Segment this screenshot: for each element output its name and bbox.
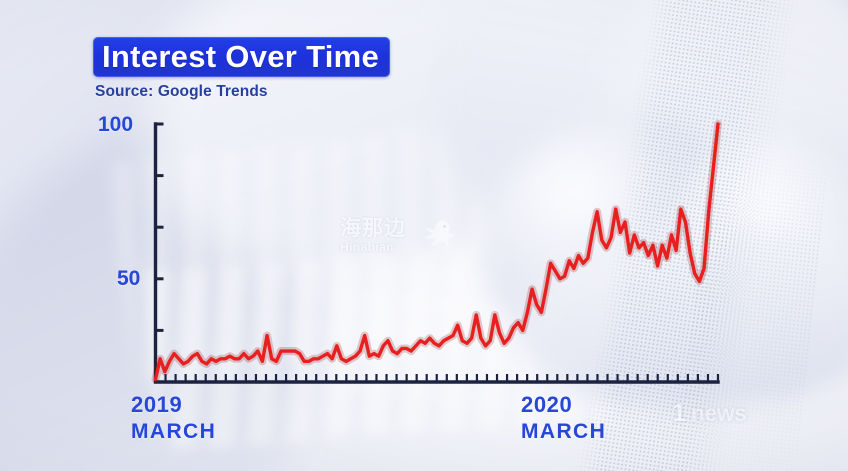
broadcaster-number: 1 <box>672 401 686 426</box>
series-line-glow <box>156 124 719 379</box>
x-axis-ticks <box>156 374 719 381</box>
broadcaster-logo: 1 news <box>672 399 746 427</box>
broadcaster-word: news <box>691 402 747 425</box>
broadcast-graphic: 海那边 Hinabian Interest Over Time Source: … <box>0 0 848 471</box>
